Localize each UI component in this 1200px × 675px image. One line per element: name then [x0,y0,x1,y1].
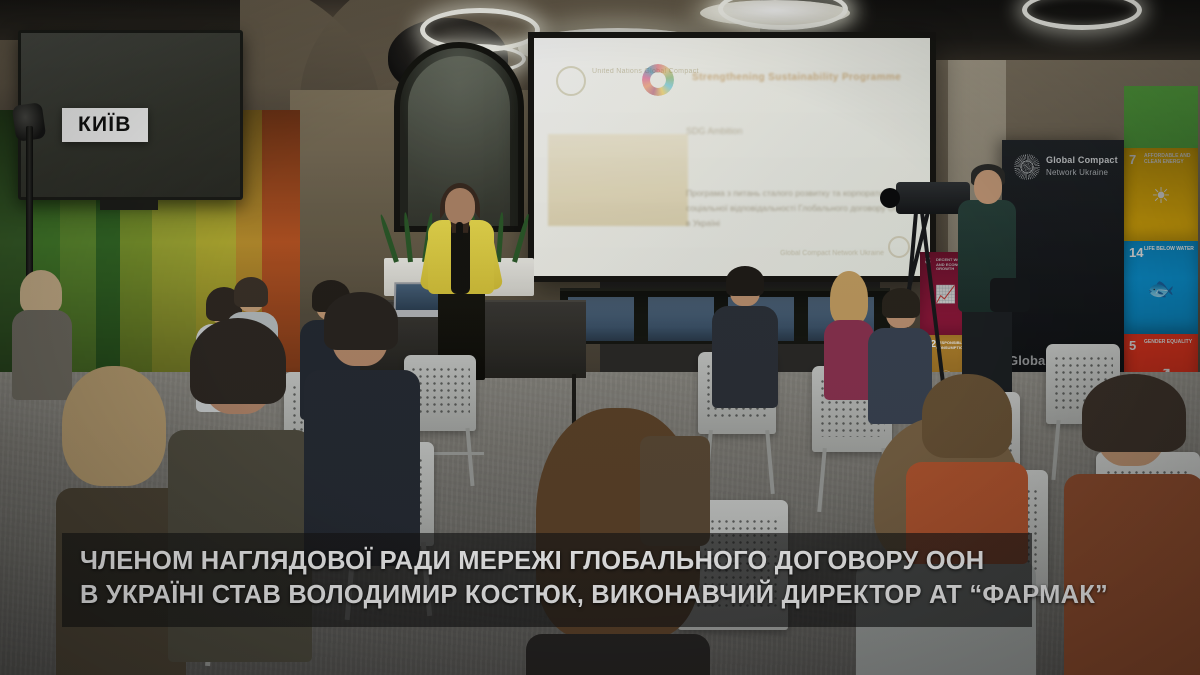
broadcast-frame: United Nations Global Compact Strengthen… [0,0,1200,675]
location-badge-text: КИЇВ [78,114,132,135]
chair-leg [1051,420,1060,480]
chair-leg [465,428,474,486]
person-hair [324,292,398,350]
audience-member [712,272,778,402]
person-hair [62,366,166,486]
location-badge: КИЇВ [62,108,148,142]
bag [640,436,710,546]
person-hair [20,270,62,314]
chair-rail [430,452,484,455]
audience-member [1064,386,1200,675]
person-hair [830,271,868,325]
audience-member [906,386,1028,556]
audience-member-bag [640,436,710,546]
person-hair [190,318,286,404]
caption-line-1: ЧЛЕНОМ НАГЛЯДОВОЇ РАДИ МЕРЕЖІ ГЛОБАЛЬНОГ… [80,545,1014,579]
audience-member [824,276,874,394]
person-hair [726,266,764,296]
audience-member [304,302,420,562]
person-torso [824,320,874,400]
person-hair [882,288,920,318]
chair-leg [765,430,775,494]
person-torso [712,306,778,408]
chair-leg [817,448,827,512]
person-torso [526,634,710,675]
person-torso [1064,474,1200,675]
person-hair [234,277,268,307]
person-hair [1082,374,1186,452]
lower-third-caption: ЧЛЕНОМ НАГЛЯДОВОЇ РАДИ МЕРЕЖІ ГЛОБАЛЬНОГ… [62,533,1032,627]
audience-member [56,376,186,675]
caption-line-2: В УКРАЇНІ СТАВ ВОЛОДИМИР КОСТЮК, ВИКОНАВ… [80,579,1014,613]
person-hair [922,374,1012,458]
